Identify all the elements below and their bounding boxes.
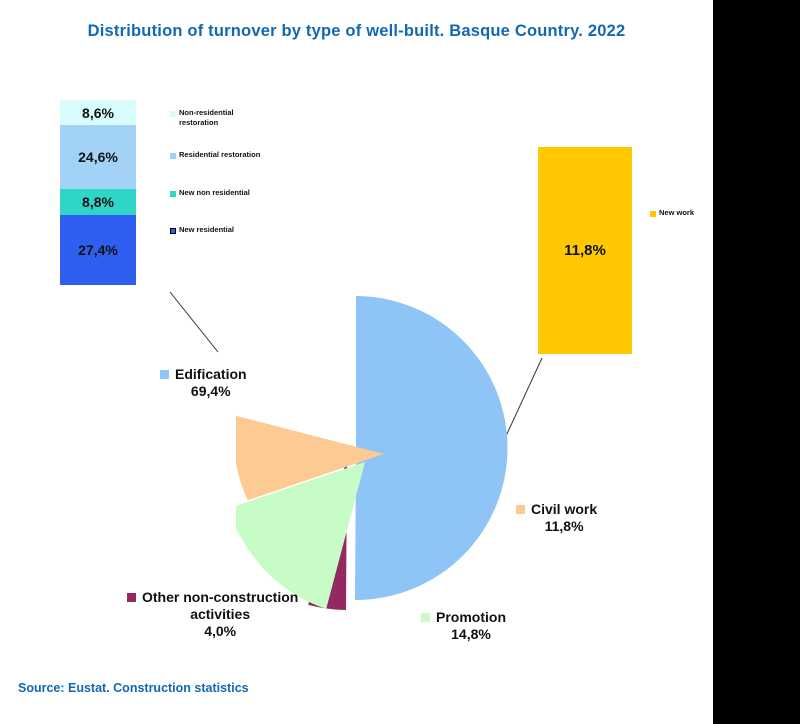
- pie-label-value: 14,8%: [421, 626, 506, 643]
- pie-label-name-line2: activities: [127, 606, 298, 623]
- stacked-bar-edification: 8,6% 24,6% 8,8% 27,4%: [60, 100, 136, 285]
- legend-item-residential-restoration[interactable]: Residential restoration: [170, 150, 260, 160]
- stack-segment-value: 8,8%: [82, 194, 114, 210]
- bar-new-work-value: 11,8%: [564, 242, 606, 259]
- legend-label: Residential restoration: [179, 150, 260, 160]
- pie-label-name: Other non-construction: [142, 589, 298, 606]
- legend-item-new-residential[interactable]: New residential: [170, 225, 234, 235]
- legend-label: Non-residential restoration: [179, 108, 234, 127]
- pie-chart: [236, 288, 536, 623]
- legend-swatch-icon: [170, 228, 176, 234]
- pie-label-other-non-construction: Other non-construction activities 4,0%: [127, 589, 298, 640]
- legend-item-new-non-residential[interactable]: New non residential: [170, 188, 250, 198]
- legend-item-new-work[interactable]: New work: [650, 208, 694, 218]
- legend-item-non-residential-restoration[interactable]: Non-residential restoration: [170, 108, 234, 127]
- legend-swatch-icon: [170, 153, 176, 159]
- pie-label-value: 69,4%: [160, 383, 247, 400]
- stack-segment-non-residential-restoration[interactable]: 8,6%: [60, 100, 136, 125]
- legend-swatch-icon: [650, 211, 656, 217]
- pie-swatch-icon: [127, 593, 136, 602]
- legend-swatch-icon: [170, 111, 176, 117]
- legend-swatch-icon: [170, 191, 176, 197]
- legend-label: New work: [659, 208, 694, 218]
- pie-label-civil-work: Civil work 11,8%: [516, 501, 597, 535]
- pie-slice-edification[interactable]: [355, 296, 508, 600]
- stack-segment-residential-restoration[interactable]: 24,6%: [60, 125, 136, 189]
- stack-segment-value: 27,4%: [78, 242, 118, 258]
- pie-label-value: 4,0%: [127, 623, 298, 640]
- stack-segment-new-residential[interactable]: 27,4%: [60, 215, 136, 285]
- stack-segment-value: 24,6%: [78, 149, 118, 165]
- pie-label-name: Civil work: [531, 501, 597, 518]
- chart-canvas: Distribution of turnover by type of well…: [0, 0, 713, 724]
- bar-new-work[interactable]: 11,8%: [538, 147, 632, 354]
- stack-segment-value: 8,6%: [82, 105, 114, 121]
- legend-label: New non residential: [179, 188, 250, 198]
- pie-label-value: 11,8%: [516, 518, 597, 535]
- pie-label-edification: Edification 69,4%: [160, 366, 247, 400]
- stack-segment-new-non-residential[interactable]: 8,8%: [60, 189, 136, 215]
- legend-label: New residential: [179, 225, 234, 235]
- pie-label-name: Edification: [175, 366, 247, 383]
- chart-root: Distribution of turnover by type of well…: [0, 0, 800, 724]
- pie-label-name: Promotion: [436, 609, 506, 626]
- pie-swatch-icon: [421, 613, 430, 622]
- pie-swatch-icon: [160, 370, 169, 379]
- page-title: Distribution of turnover by type of well…: [0, 22, 713, 41]
- source-note: Source: Eustat. Construction statistics: [18, 681, 249, 695]
- pie-label-promotion: Promotion 14,8%: [421, 609, 506, 643]
- pie-swatch-icon: [516, 505, 525, 514]
